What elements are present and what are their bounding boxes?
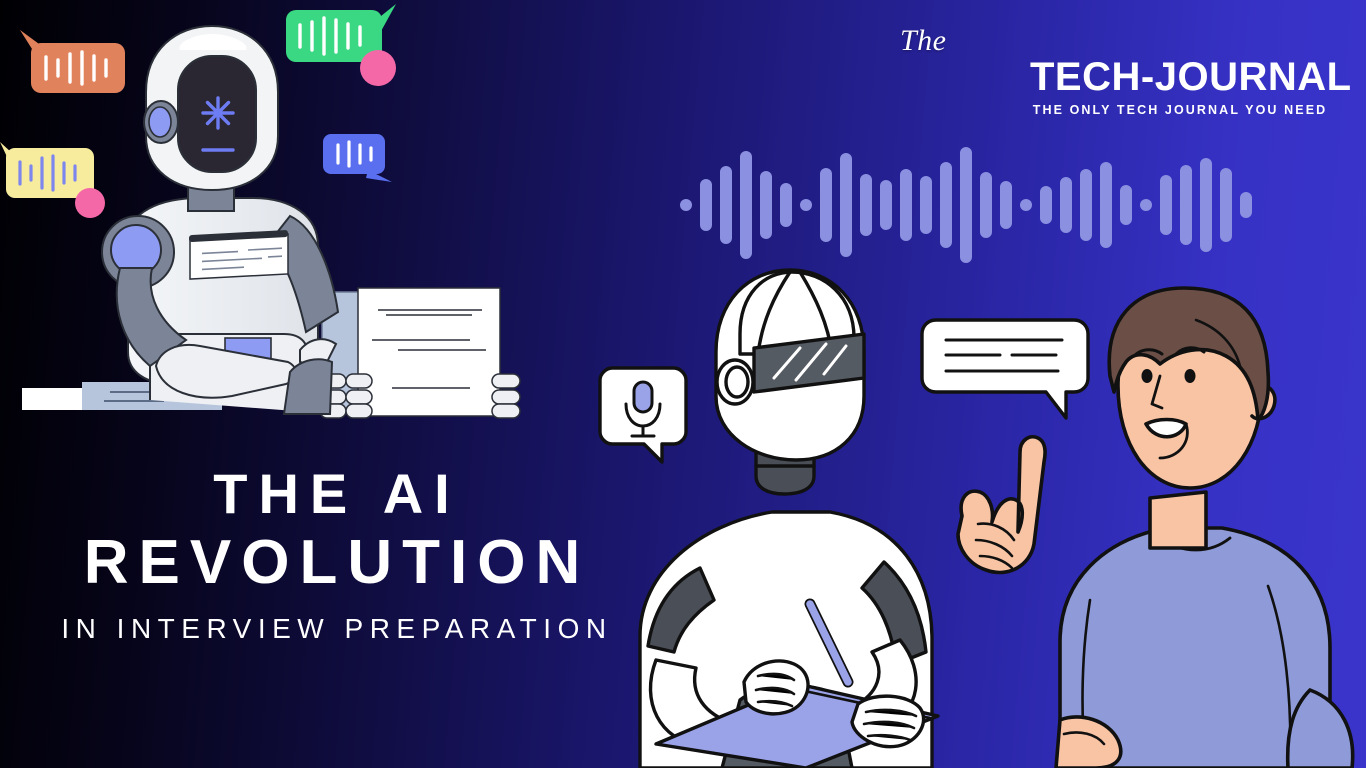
site-logo[interactable]: The TECH-JOURNAL THE ONLY TECH JOURNAL Y… — [1030, 26, 1330, 119]
logo-tagline: THE ONLY TECH JOURNAL YOU NEED — [1030, 101, 1330, 119]
headline-line-1: THE AI — [0, 462, 660, 526]
headline-subtitle: IN INTERVIEW PREPARATION — [0, 608, 660, 650]
logo-name: TECH-JOURNAL — [1030, 56, 1330, 98]
poster-canvas: The TECH-JOURNAL THE ONLY TECH JOURNAL Y… — [0, 0, 1366, 768]
logo-script-word: The — [880, 26, 1330, 56]
speech-bubble-lines — [922, 320, 1088, 418]
headline-line-2: REVOLUTION — [0, 526, 660, 600]
microphone-bubble — [600, 368, 686, 462]
headline-block: THE AI REVOLUTION IN INTERVIEW PREPARATI… — [0, 462, 660, 650]
